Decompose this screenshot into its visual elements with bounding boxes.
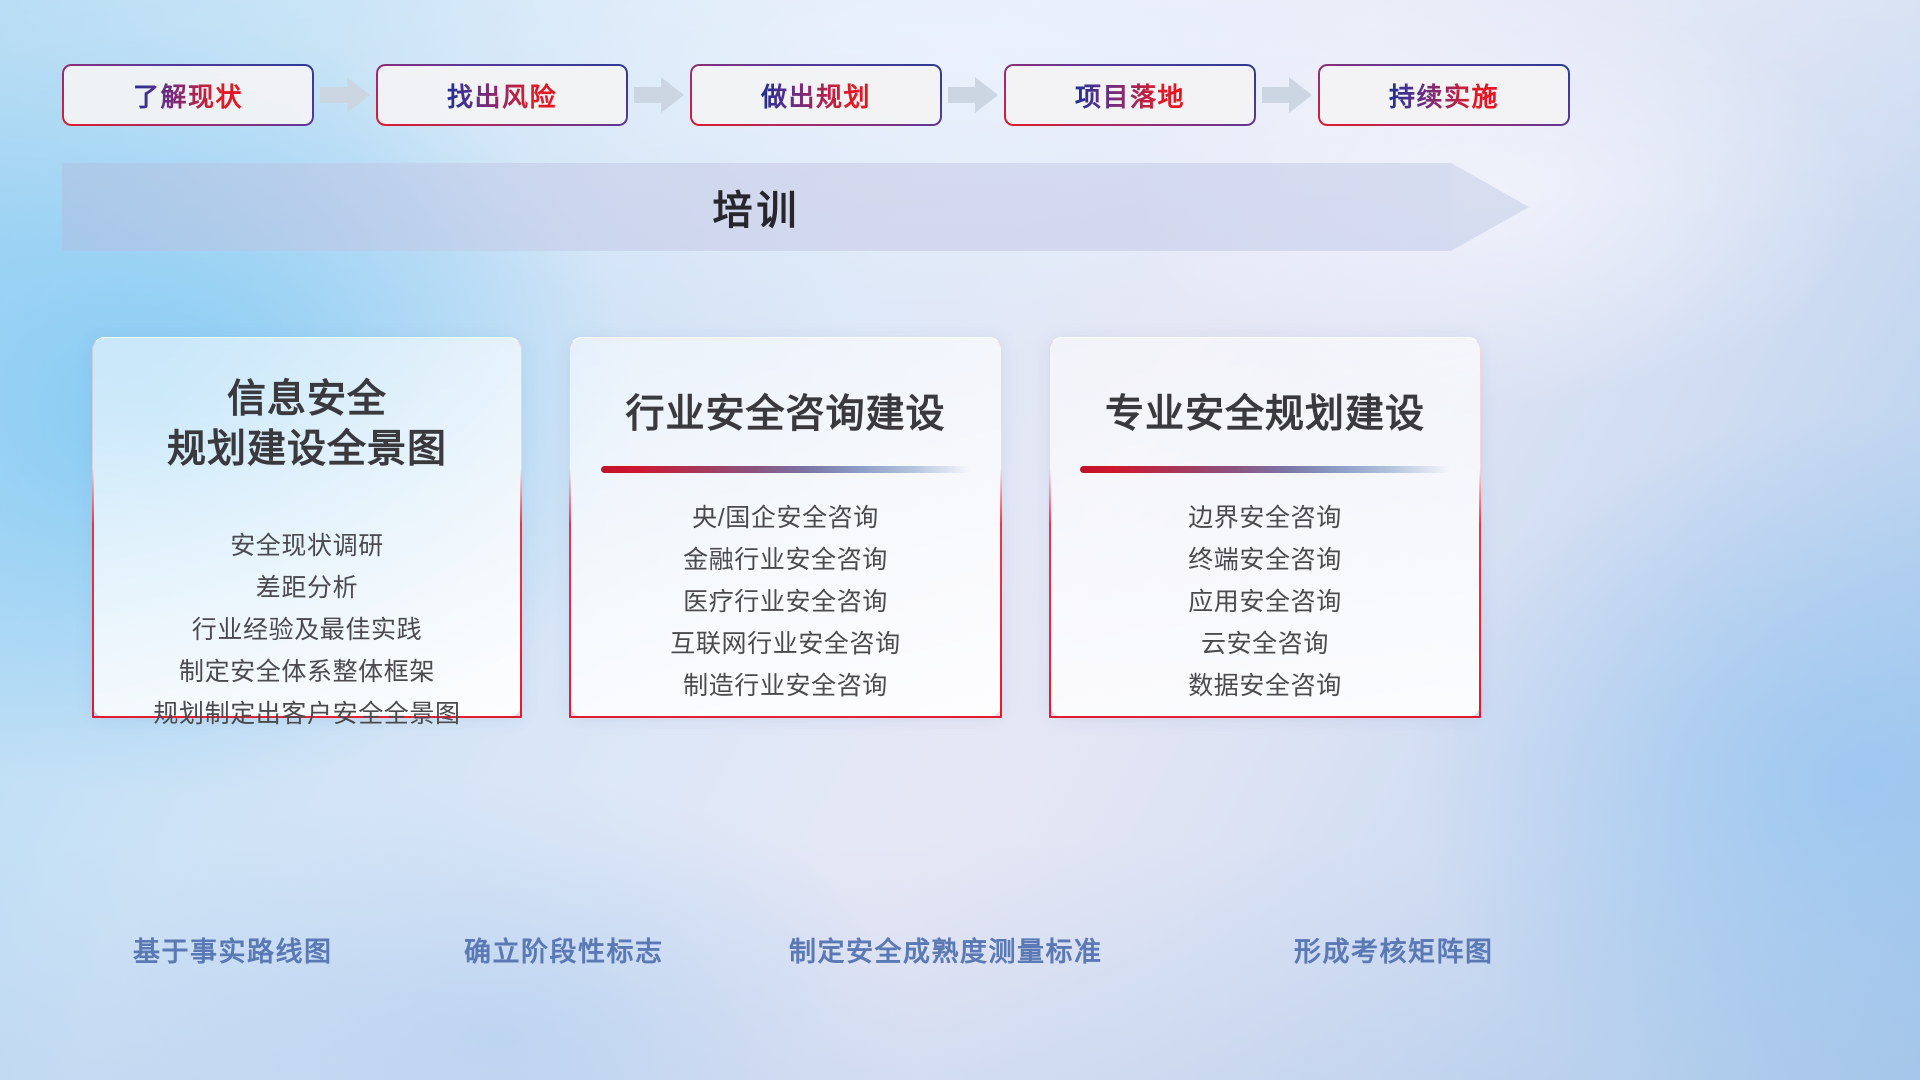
process-step-2[interactable]: 找出风险 [376, 64, 628, 126]
list-item: 制造行业安全咨询 [683, 665, 888, 707]
card-3-title: 专业安全规划建设 [1105, 390, 1425, 440]
process-arrow-icon-4 [1262, 77, 1312, 113]
list-item: 金融行业安全咨询 [683, 539, 888, 581]
list-item: 央/国企安全咨询 [692, 497, 879, 539]
card-professional-security-planning[interactable]: 专业安全规划建设 边界安全咨询 终端安全咨询 应用安全咨询 云安全咨询 数据安全… [1049, 337, 1481, 717]
list-item: 差距分析 [256, 567, 358, 609]
process-step-5-label: 持续实施 [1389, 77, 1499, 114]
card-row: 信息安全 规划建设全景图 安全现状调研 差距分析 行业经验及最佳实践 制定安全体… [92, 337, 1812, 717]
list-item: 数据安全咨询 [1188, 665, 1342, 707]
process-step-3[interactable]: 做出规划 [690, 64, 942, 126]
card-bottom-rail [569, 716, 1002, 718]
slide-stage: 了解现状 找出风险 做出规划 项目落地 持续实施 [0, 0, 1920, 1080]
process-arrow-icon-1 [320, 77, 370, 113]
card-2-divider [601, 466, 971, 473]
caption-1: 基于事实路线图 [133, 930, 333, 969]
caption-4: 形成考核矩阵图 [1294, 930, 1494, 969]
process-step-4-label: 项目落地 [1075, 77, 1185, 114]
process-step-1[interactable]: 了解现状 [62, 64, 314, 126]
list-item: 互联网行业安全咨询 [670, 623, 900, 665]
card-bottom-rail [1049, 716, 1481, 718]
list-item: 医疗行业安全咨询 [683, 581, 888, 623]
list-item: 规划制定出客户安全全景图 [153, 693, 460, 735]
process-step-row: 了解现状 找出风险 做出规划 项目落地 持续实施 [62, 62, 1858, 128]
list-item: 终端安全咨询 [1188, 539, 1342, 581]
card-2-list: 央/国企安全咨询 金融行业安全咨询 医疗行业安全咨询 互联网行业安全咨询 制造行… [569, 497, 1002, 707]
process-step-2-label: 找出风险 [447, 77, 557, 114]
process-step-5[interactable]: 持续实施 [1318, 64, 1570, 126]
process-step-3-label: 做出规划 [761, 77, 871, 114]
process-step-1-label: 了解现状 [133, 77, 243, 114]
card-1-list: 安全现状调研 差距分析 行业经验及最佳实践 制定安全体系整体框架 规划制定出客户… [92, 525, 522, 735]
card-industry-security-consulting[interactable]: 行业安全咨询建设 央/国企安全咨询 金融行业安全咨询 医疗行业安全咨询 互联网行… [569, 337, 1002, 717]
caption-3: 制定安全成熟度测量标准 [789, 930, 1103, 969]
card-1-title: 信息安全 规划建设全景图 [167, 375, 447, 475]
process-arrow-icon-2 [634, 77, 684, 113]
training-banner-title: 培训 [62, 163, 1451, 251]
training-banner: 培训 [62, 163, 1512, 251]
card-3-divider [1080, 466, 1450, 473]
list-item: 制定安全体系整体框架 [179, 651, 435, 693]
list-item: 应用安全咨询 [1188, 581, 1342, 623]
list-item: 边界安全咨询 [1188, 497, 1342, 539]
process-arrow-icon-3 [948, 77, 998, 113]
card-2-title: 行业安全咨询建设 [625, 390, 945, 440]
caption-2: 确立阶段性标志 [464, 930, 664, 969]
list-item: 行业经验及最佳实践 [192, 609, 422, 651]
card-3-list: 边界安全咨询 终端安全咨询 应用安全咨询 云安全咨询 数据安全咨询 [1049, 497, 1481, 707]
process-step-4[interactable]: 项目落地 [1004, 64, 1256, 126]
caption-row: 基于事实路线图 确立阶段性标志 制定安全成熟度测量标准 形成考核矩阵图 [0, 930, 1920, 980]
list-item: 安全现状调研 [230, 525, 384, 567]
banner-arrow-tip-icon [1451, 147, 1571, 267]
list-item: 云安全咨询 [1201, 623, 1329, 665]
card-information-security-blueprint[interactable]: 信息安全 规划建设全景图 安全现状调研 差距分析 行业经验及最佳实践 制定安全体… [92, 337, 522, 717]
